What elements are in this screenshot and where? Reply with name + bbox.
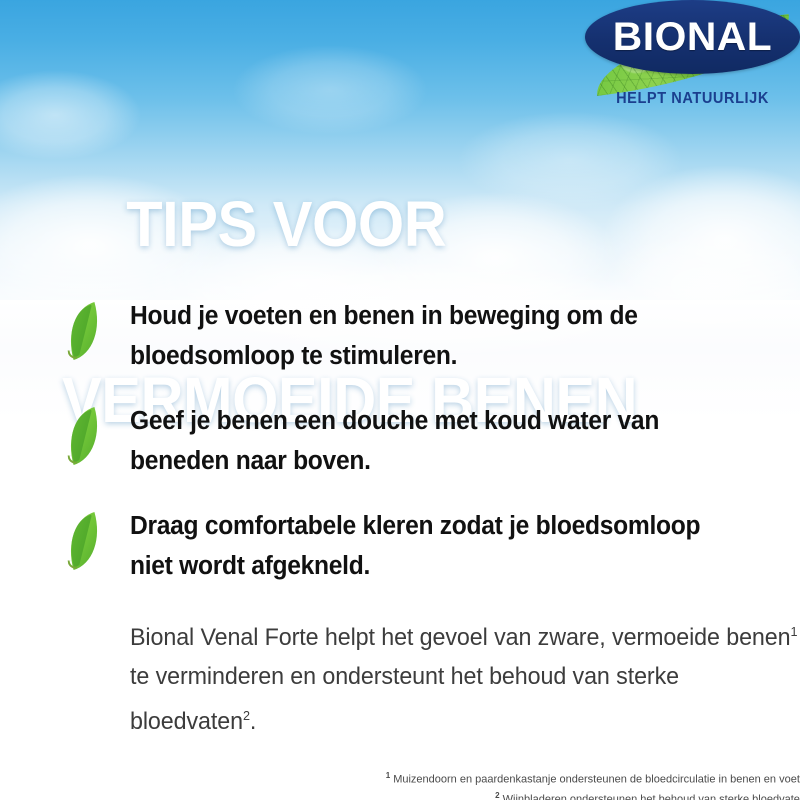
footnote-1: 1 Muizendoorn en paardenkastanje onderst…	[0, 768, 800, 788]
footnote-2: 2 Wijnbladeren ondersteunen het behoud v…	[0, 788, 800, 800]
footnote-ref-2: 2	[243, 708, 250, 723]
description-part-3: .	[250, 708, 256, 735]
list-item: Geef je benen een douche met koud water …	[0, 401, 800, 506]
footnotes: 1 Muizendoorn en paardenkastanje onderst…	[0, 768, 800, 800]
logo-wordmark: BIONAL	[583, 0, 800, 74]
page-title-line1: TIPS VOOR	[126, 188, 446, 260]
footnote-1-text: Muizendoorn en paardenkastanje ondersteu…	[390, 774, 800, 786]
tips-list: Houd je voeten en benen in beweging om d…	[0, 296, 800, 611]
description-part-2: te verminderen en ondersteunt het behoud…	[130, 663, 679, 735]
leaf-icon	[66, 411, 106, 467]
tip-text: Houd je voeten en benen in beweging om d…	[130, 296, 786, 376]
footnote-2-text: Wijnbladeren ondersteunen het behoud van…	[500, 793, 800, 800]
leaf-icon	[66, 516, 106, 572]
tip-text: Draag comfortabele kleren zodat je bloed…	[130, 506, 786, 586]
footnote-ref-1: 1	[790, 624, 797, 639]
list-item: Draag comfortabele kleren zodat je bloed…	[0, 506, 800, 611]
poster: BIONAL HELPT NATUURLIJK TIPS VOOR VERMOE…	[0, 0, 800, 800]
product-description: Bional Venal Forte helpt het gevoel van …	[130, 612, 799, 741]
leaf-icon	[66, 306, 106, 362]
tip-text: Geef je benen een douche met koud water …	[130, 401, 786, 481]
list-item: Houd je voeten en benen in beweging om d…	[0, 296, 800, 401]
description-part-1: Bional Venal Forte helpt het gevoel van …	[130, 624, 790, 651]
